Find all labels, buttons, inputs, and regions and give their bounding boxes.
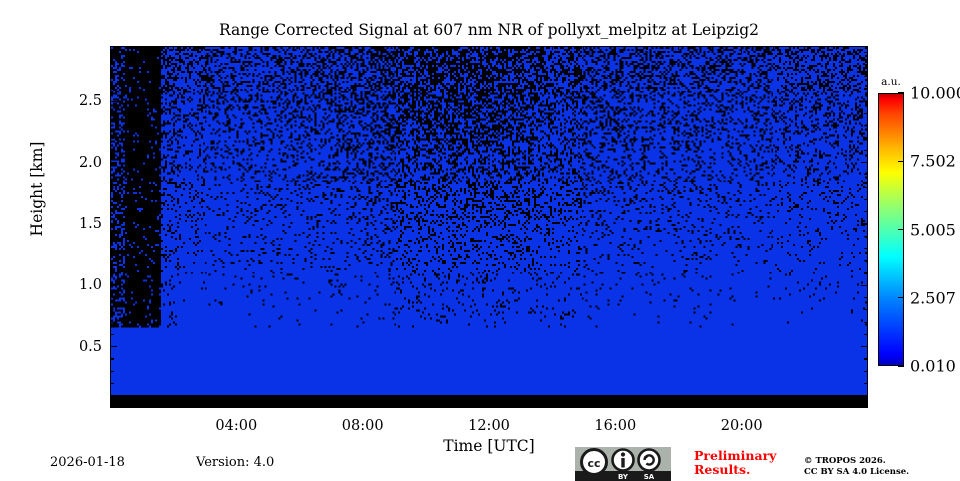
y-minor-tick-right bbox=[864, 76, 868, 77]
y-major-tick-right bbox=[861, 346, 868, 347]
x-minor-tick bbox=[299, 404, 300, 408]
x-minor-tick bbox=[267, 404, 268, 408]
y-minor-tick bbox=[110, 358, 114, 359]
y-minor-tick-right bbox=[864, 125, 868, 126]
y-minor-tick-right bbox=[864, 383, 868, 384]
y-minor-tick bbox=[110, 76, 114, 77]
x-minor-tick bbox=[709, 404, 710, 408]
colorbar-tick bbox=[898, 365, 904, 366]
y-minor-tick bbox=[110, 248, 114, 249]
y-minor-tick bbox=[110, 334, 114, 335]
y-minor-tick bbox=[110, 174, 114, 175]
x-major-tick-top bbox=[362, 46, 363, 53]
y-minor-tick bbox=[110, 297, 114, 298]
x-minor-tick-top bbox=[394, 46, 395, 50]
x-minor-tick-top bbox=[173, 46, 174, 50]
figure-canvas: Range Corrected Signal at 607 nm NR of p… bbox=[0, 0, 960, 480]
y-minor-tick-right bbox=[864, 395, 868, 396]
x-minor-tick-top bbox=[552, 46, 553, 50]
y-minor-tick bbox=[110, 236, 114, 237]
y-major-tick bbox=[110, 346, 117, 347]
y-minor-tick bbox=[110, 150, 114, 151]
x-major-tick bbox=[741, 401, 742, 408]
y-tick-label: 2.0 bbox=[48, 155, 102, 171]
y-minor-tick-right bbox=[864, 211, 868, 212]
x-minor-tick bbox=[520, 404, 521, 408]
colorbar-tick-label: 2.507 bbox=[910, 288, 956, 307]
x-minor-tick-top bbox=[773, 46, 774, 50]
x-major-tick bbox=[236, 401, 237, 408]
x-major-tick-top bbox=[615, 46, 616, 53]
x-tick-label: 16:00 bbox=[594, 418, 636, 434]
x-minor-tick bbox=[646, 404, 647, 408]
y-major-tick bbox=[110, 223, 117, 224]
y-major-tick bbox=[110, 162, 117, 163]
x-minor-tick-top bbox=[836, 46, 837, 50]
y-minor-tick bbox=[110, 309, 114, 310]
y-minor-tick-right bbox=[864, 174, 868, 175]
colorbar-tick bbox=[898, 229, 904, 230]
x-minor-tick-top bbox=[299, 46, 300, 50]
colorbar-tick-label: 5.005 bbox=[910, 220, 956, 239]
y-minor-tick bbox=[110, 322, 114, 323]
x-minor-tick-top bbox=[678, 46, 679, 50]
preliminary-line-1: Preliminary bbox=[694, 449, 776, 463]
y-minor-tick-right bbox=[864, 248, 868, 249]
y-minor-tick-right bbox=[864, 371, 868, 372]
colorbar-tick bbox=[898, 161, 904, 162]
x-minor-tick bbox=[836, 404, 837, 408]
y-minor-tick bbox=[110, 272, 114, 273]
x-minor-tick-top bbox=[204, 46, 205, 50]
y-minor-tick-right bbox=[864, 137, 868, 138]
x-major-tick bbox=[488, 401, 489, 408]
copyright-line-1: © TROPOS 2026. bbox=[804, 456, 909, 467]
colorbar-unit-label: a.u. bbox=[878, 76, 904, 88]
x-minor-tick bbox=[330, 404, 331, 408]
page-title: Range Corrected Signal at 607 nm NR of p… bbox=[110, 20, 868, 40]
footer-version: Version: 4.0 bbox=[196, 455, 274, 470]
y-major-tick-right bbox=[861, 285, 868, 286]
preliminary-line-2: Results. bbox=[694, 463, 776, 477]
colorbar-tick-label: 10.000 bbox=[910, 84, 960, 103]
x-minor-tick bbox=[425, 404, 426, 408]
x-tick-label: 12:00 bbox=[468, 418, 510, 434]
x-minor-tick bbox=[141, 404, 142, 408]
x-minor-tick-top bbox=[804, 46, 805, 50]
x-major-tick bbox=[615, 401, 616, 408]
y-minor-tick bbox=[110, 383, 114, 384]
y-minor-tick-right bbox=[864, 199, 868, 200]
y-minor-tick-right bbox=[864, 322, 868, 323]
x-major-tick-top bbox=[741, 46, 742, 53]
y-minor-tick-right bbox=[864, 52, 868, 53]
y-tick-label: 0.5 bbox=[48, 339, 102, 355]
x-minor-tick bbox=[773, 404, 774, 408]
copyright-line-2: CC BY SA 4.0 License. bbox=[804, 467, 909, 478]
y-minor-tick-right bbox=[864, 334, 868, 335]
x-minor-tick bbox=[204, 404, 205, 408]
y-minor-tick-right bbox=[864, 309, 868, 310]
x-major-tick-top bbox=[236, 46, 237, 53]
x-tick-label: 08:00 bbox=[342, 418, 384, 434]
y-minor-tick bbox=[110, 64, 114, 65]
x-minor-tick bbox=[173, 404, 174, 408]
y-tick-label: 1.5 bbox=[48, 216, 102, 232]
y-minor-tick bbox=[110, 187, 114, 188]
y-major-tick-right bbox=[861, 101, 868, 102]
y-minor-tick-right bbox=[864, 150, 868, 151]
x-minor-tick-top bbox=[425, 46, 426, 50]
cc-by-sa-icon[interactable]: cc BY SA bbox=[575, 447, 671, 481]
y-major-tick bbox=[110, 101, 117, 102]
y-tick-label: 1.0 bbox=[48, 277, 102, 293]
y-minor-tick bbox=[110, 371, 114, 372]
y-minor-tick-right bbox=[864, 297, 868, 298]
y-major-tick bbox=[110, 285, 117, 286]
y-major-tick-right bbox=[861, 162, 868, 163]
y-tick-label: 2.5 bbox=[48, 93, 102, 109]
y-minor-tick bbox=[110, 137, 114, 138]
x-minor-tick bbox=[394, 404, 395, 408]
x-minor-tick-top bbox=[646, 46, 647, 50]
y-minor-tick-right bbox=[864, 187, 868, 188]
x-minor-tick bbox=[457, 404, 458, 408]
y-minor-tick-right bbox=[864, 260, 868, 261]
x-tick-label: 04:00 bbox=[215, 418, 257, 434]
y-minor-tick-right bbox=[864, 88, 868, 89]
y-minor-tick bbox=[110, 113, 114, 114]
x-major-tick bbox=[362, 401, 363, 408]
x-major-tick-top bbox=[488, 46, 489, 53]
y-minor-tick bbox=[110, 125, 114, 126]
heatmap-axes[interactable] bbox=[110, 46, 868, 408]
x-minor-tick bbox=[804, 404, 805, 408]
x-tick-label: 20:00 bbox=[721, 418, 763, 434]
x-minor-tick-top bbox=[330, 46, 331, 50]
y-minor-tick bbox=[110, 395, 114, 396]
x-minor-tick-top bbox=[267, 46, 268, 50]
x-minor-tick-top bbox=[141, 46, 142, 50]
y-minor-tick bbox=[110, 52, 114, 53]
colorbar-tick bbox=[898, 297, 904, 298]
x-minor-tick bbox=[583, 404, 584, 408]
x-minor-tick-top bbox=[520, 46, 521, 50]
x-minor-tick bbox=[678, 404, 679, 408]
x-minor-tick-top bbox=[583, 46, 584, 50]
copyright-note: © TROPOS 2026. CC BY SA 4.0 License. bbox=[804, 456, 909, 478]
preliminary-results-note: Preliminary Results. bbox=[694, 449, 776, 477]
x-minor-tick-top bbox=[457, 46, 458, 50]
y-minor-tick bbox=[110, 260, 114, 261]
y-major-tick-right bbox=[861, 223, 868, 224]
y-minor-tick-right bbox=[864, 113, 868, 114]
svg-text:cc: cc bbox=[587, 457, 600, 470]
y-minor-tick-right bbox=[864, 64, 868, 65]
colorbar-tick-label: 7.502 bbox=[910, 152, 956, 171]
y-minor-tick bbox=[110, 211, 114, 212]
y-axis-label: Height [km] bbox=[28, 109, 46, 269]
y-minor-tick bbox=[110, 199, 114, 200]
colorbar-tick-label: 0.010 bbox=[910, 357, 956, 376]
y-minor-tick-right bbox=[864, 236, 868, 237]
y-minor-tick-right bbox=[864, 358, 868, 359]
x-minor-tick bbox=[552, 404, 553, 408]
y-minor-tick bbox=[110, 88, 114, 89]
colorbar-tick bbox=[898, 92, 904, 93]
heatmap-image bbox=[111, 47, 867, 407]
footer-date: 2026-01-18 bbox=[50, 455, 125, 470]
y-minor-tick-right bbox=[864, 272, 868, 273]
x-minor-tick-top bbox=[709, 46, 710, 50]
